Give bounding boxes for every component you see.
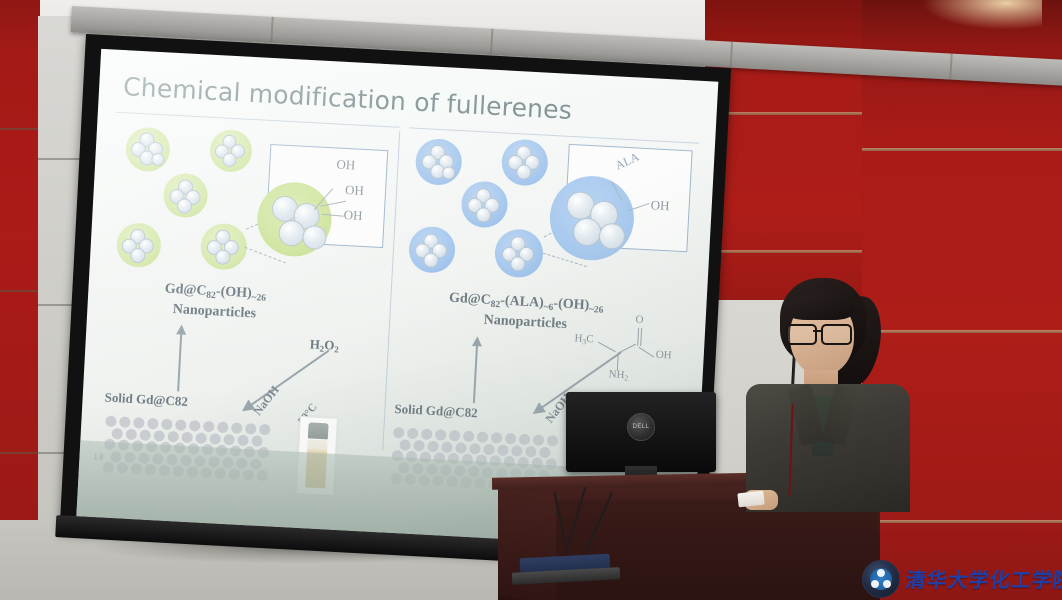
lectern-front-panel xyxy=(556,500,878,600)
solid-particle-dot xyxy=(112,427,124,439)
solid-particle-dot xyxy=(455,442,467,454)
callout-label-oh: OH xyxy=(343,207,363,224)
left-product-formula: Gd@C82-(OH)~26 Nanoparticles xyxy=(109,278,321,326)
solid-particle-dot xyxy=(139,429,151,441)
callout-box-hydroxyl: OH OH OH xyxy=(265,144,388,248)
solid-particle-dot xyxy=(223,433,235,445)
presentation-scene: Chemical modification of fullerenes xyxy=(0,0,1062,600)
left-reactant-label: Solid Gd@C82 xyxy=(104,390,188,410)
right-reactant-label: Solid Gd@C82 xyxy=(394,401,478,421)
solid-particle-dot xyxy=(497,444,509,456)
solid-particle-dot xyxy=(441,441,453,453)
solid-particle-dot xyxy=(511,445,523,457)
university-emblem-icon xyxy=(862,560,900,598)
nanoparticle-cluster xyxy=(162,172,208,218)
nanoparticle-cluster xyxy=(494,228,544,278)
callout-label-oh: OH xyxy=(345,182,365,199)
solid-particle-dot xyxy=(245,423,257,435)
slide-number: 18 xyxy=(93,452,104,462)
solid-particle-dot xyxy=(505,433,517,445)
solid-particle-dot xyxy=(435,429,447,441)
nanoparticle-cluster xyxy=(200,222,248,270)
solid-particle-dot xyxy=(217,422,229,434)
label-hydroxyl: OH xyxy=(655,349,672,362)
nanoparticle-cluster xyxy=(116,222,162,268)
solid-particle-dot xyxy=(181,431,193,443)
solid-particle-dot xyxy=(407,428,419,440)
nanoparticle-cluster xyxy=(209,129,253,173)
solid-particle-dot xyxy=(237,434,249,446)
solid-particle-dot xyxy=(195,432,207,444)
solid-particle-dot xyxy=(393,427,405,439)
nanoparticle-cluster xyxy=(408,226,456,274)
presenter xyxy=(742,278,912,508)
solid-particle-dot xyxy=(399,439,411,451)
ceiling-light-glow xyxy=(922,0,1042,30)
callout-box-ala: ALA OH xyxy=(563,144,692,252)
dell-logo-icon: DELL xyxy=(627,413,655,441)
solid-particle-dot xyxy=(477,431,489,443)
left-panel-hydroxylation: OH OH OH Gd@C82-(OH)~26 Nanoparticles So… xyxy=(98,114,397,459)
reaction-arrow-up xyxy=(473,345,478,403)
solid-particle-dot xyxy=(119,416,131,428)
label-methyl: H3C xyxy=(574,332,594,346)
solid-particle-dot xyxy=(525,445,537,457)
solid-particle-dot xyxy=(231,422,243,434)
callout-label-ala: ALA xyxy=(613,149,642,173)
solid-particle-dot xyxy=(203,421,215,433)
nanoparticle-cluster xyxy=(501,138,549,186)
label-carbonyl-o: O xyxy=(635,314,644,326)
solid-particle-dot xyxy=(491,432,503,444)
callout-label-oh: OH xyxy=(336,157,356,174)
hair-fringe xyxy=(786,294,854,320)
solid-particle-dot xyxy=(133,417,145,429)
solid-particle-dot xyxy=(153,430,165,442)
solid-particle-dot xyxy=(161,419,173,431)
solid-particle-dot xyxy=(147,418,159,430)
solid-particle-dot xyxy=(547,435,559,447)
nanoparticle-cluster xyxy=(125,126,171,172)
solid-particle-dot xyxy=(519,434,531,446)
alanine-structure: H3C NH2 O OH Alanine (ALA) xyxy=(572,310,682,392)
solid-particle-dot xyxy=(421,428,433,440)
callout-label-oh: OH xyxy=(650,197,670,214)
institution-name: 清华大学化工学院 xyxy=(904,560,1062,596)
solid-particle-dot xyxy=(413,440,425,452)
solid-particle-dot xyxy=(209,433,221,445)
solid-particle-dot xyxy=(533,434,545,446)
solid-particle-dot xyxy=(483,443,495,455)
left-product-label: Nanoparticles xyxy=(109,297,320,326)
solid-particle-dot xyxy=(105,416,117,428)
computer-monitor[interactable]: DELL xyxy=(566,392,716,472)
solid-particle-dot xyxy=(463,431,475,443)
solid-particle-dot xyxy=(125,428,137,440)
nanoparticle-cluster xyxy=(415,138,463,186)
solid-particle-dot xyxy=(175,419,187,431)
paper-notes xyxy=(737,491,764,508)
wall-panel-red-left xyxy=(0,0,40,520)
slide-canvas: Chemical modification of fullerenes xyxy=(76,49,718,549)
reaction-arrow-up xyxy=(177,333,182,391)
nanoparticle-cluster xyxy=(460,180,508,228)
glasses-icon xyxy=(786,324,854,341)
solid-particle-dot xyxy=(251,435,263,447)
solid-particle-dot xyxy=(469,443,481,455)
solid-particle-dot xyxy=(449,430,461,442)
solid-particle-dot xyxy=(189,420,201,432)
solid-particle-dot xyxy=(539,446,551,458)
reagent-h2o2: H2O2 xyxy=(309,336,339,355)
institution-banner: 清华大学化工学院 xyxy=(862,556,1062,600)
label-amine: NH2 xyxy=(608,368,628,382)
solid-particle-dot xyxy=(259,424,271,436)
solid-particle-dot xyxy=(167,430,179,442)
solid-particle-dot xyxy=(427,440,439,452)
